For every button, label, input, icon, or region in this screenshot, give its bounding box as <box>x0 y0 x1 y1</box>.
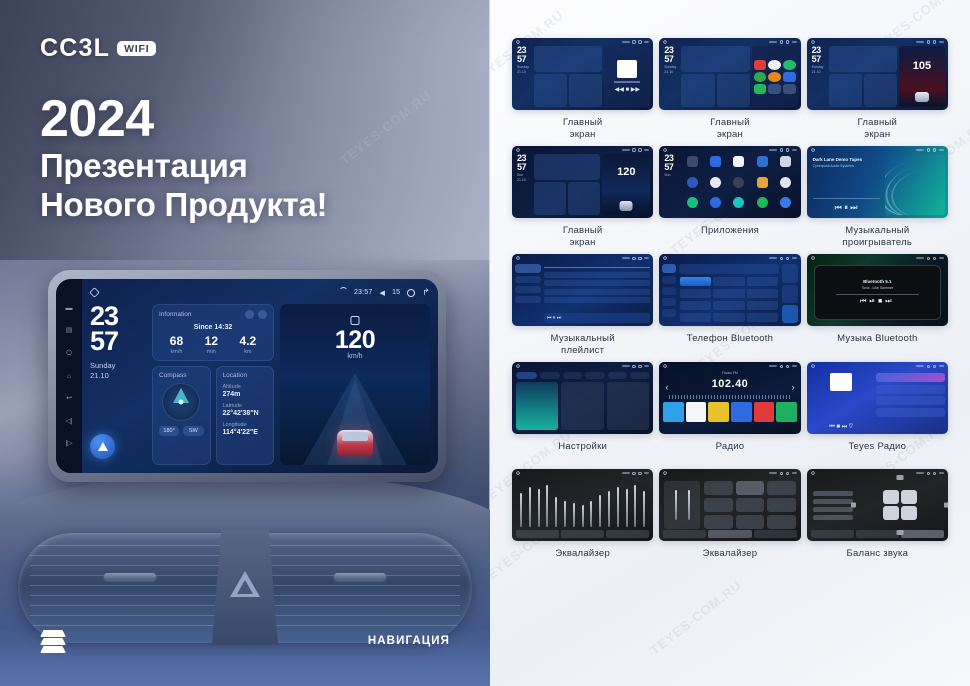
bt-track-title: Toxic - Like Summer <box>861 286 893 290</box>
gallery-item[interactable]: Настройки <box>512 362 653 463</box>
thumb-speed-value: 120 <box>602 166 650 178</box>
bt-version-label: Bluetooth 5.1 <box>863 279 892 284</box>
track-artist: Cyberpunk Audio Systems <box>813 164 880 168</box>
trip-stat: 4.2 km <box>240 335 257 355</box>
back-button[interactable]: ↩ <box>66 395 72 402</box>
screen-thumbnail[interactable] <box>512 362 653 434</box>
altitude-label: Altitude <box>223 384 268 390</box>
gallery-item[interactable]: Dark Lane Demo Tapes Cyberpunk Audio Sys… <box>807 146 948 248</box>
trip-stat: 12 min <box>205 335 218 355</box>
head-unit-screen[interactable]: ▬ ▤ ⏻ ⌂ ↩ ◁| |▷ <box>56 279 438 473</box>
hero-footer: НАВИГАЦИЯ <box>0 630 490 652</box>
thumb-speed-value: 105 <box>899 60 945 72</box>
thumbnail-caption: Баланс звука <box>847 548 909 570</box>
speed-icon <box>351 316 360 325</box>
back-icon[interactable]: ↰ <box>422 287 430 298</box>
screen-thumbnail[interactable]: 23 57 Sunday21.10 <box>512 38 653 110</box>
thumbnail-caption: Главныйэкран <box>563 225 603 248</box>
hero-headline: 2024 Презентация Нового Продукта! <box>40 92 327 224</box>
gallery-item[interactable]: ⏮ ■ ⏭ ♡ Teyes Радио <box>807 362 948 463</box>
thumbnail-caption: Музыкальныйплейлист <box>551 333 615 356</box>
altitude-value: 274m <box>223 391 268 398</box>
gallery-item[interactable]: Поиск FM 102.40 ‹ › Радио <box>659 362 800 463</box>
clock-date: 21.10 <box>90 371 146 381</box>
clock-minutes: 57 <box>90 329 146 354</box>
equalizer-sliders[interactable] <box>520 491 645 527</box>
volume-icon: ◀ <box>379 289 385 297</box>
status-clock: 23:57 <box>354 289 373 296</box>
compass-heading: 180° <box>159 426 179 436</box>
expand-icon[interactable] <box>258 310 267 319</box>
thumbnail-caption: Teyes Радио <box>848 441 906 463</box>
compass-card[interactable]: Compass 180° SW <box>152 366 211 465</box>
side-button-strip[interactable]: ▬ ▤ ⏻ ⌂ ↩ ◁| |▷ <box>56 279 82 473</box>
thumb-clock-minutes: 57 <box>664 163 678 172</box>
refresh-icon[interactable] <box>245 310 254 319</box>
stat-unit: km <box>240 349 257 355</box>
compass-dial <box>162 383 200 421</box>
logo-text: CC3L <box>40 34 110 63</box>
since-label: Since 14:32 <box>159 324 267 331</box>
gallery-item[interactable]: ⏮ ⏸ ⏭ Музыкальныйплейлист <box>512 254 653 356</box>
product-logo: CC3L WIFI <box>40 34 156 63</box>
thumbnail-grid: 23 57 Sunday21.10 <box>490 38 970 570</box>
stat-value: 12 <box>205 335 218 347</box>
screen-thumbnail[interactable]: ⏮ ■ ⏭ ♡ <box>807 362 948 434</box>
wifi-icon <box>338 289 347 296</box>
presentation-page: TEYES-COM.RU TEYES-COM.RU TEYES-COM.RU C… <box>0 0 970 686</box>
next-station-button[interactable]: › <box>792 382 795 392</box>
track-title: Dark Lane Demo Tapes <box>813 157 880 162</box>
screen-thumbnail[interactable]: 23 57 Sun21.10 120 <box>512 146 653 218</box>
head-unit-body: 23 57 Sunday 21.10 Information <box>90 304 430 465</box>
trip-stat: 68 km/h <box>170 335 183 355</box>
thumbnail-caption: Приложения <box>701 225 759 247</box>
screen-thumbnail[interactable]: Dark Lane Demo Tapes Cyberpunk Audio Sys… <box>807 146 948 218</box>
screen-thumbnail[interactable] <box>659 254 800 326</box>
layers-icon[interactable] <box>40 630 66 652</box>
location-card[interactable]: Location Altitude 274m Latitude 22°42'38… <box>216 366 275 465</box>
thumbnail-caption: Эквалайзер <box>703 548 758 570</box>
eq-button[interactable]: ▤ <box>66 327 73 334</box>
compass-pin <box>179 400 184 405</box>
navigation-label: НАВИГАЦИЯ <box>368 635 450 647</box>
hero-panel: TEYES-COM.RU TEYES-COM.RU TEYES-COM.RU C… <box>0 0 490 686</box>
compass-direction: SW <box>183 426 203 436</box>
status-bar: 23:57 ◀ 15 ↰ <box>90 286 430 299</box>
head-unit-bezel: ▬ ▤ ⏻ ⌂ ↩ ◁| |▷ <box>48 270 446 482</box>
watermark: TEYES-COM.RU <box>337 87 434 168</box>
thumbnail-caption: Телефон Bluetooth <box>687 333 773 355</box>
headline-line1: Презентация <box>40 147 327 186</box>
gear-icon[interactable] <box>407 289 415 297</box>
stat-value: 68 <box>170 335 183 347</box>
car-dashboard: ▬ ▤ ⏻ ⌂ ↩ ◁| |▷ <box>0 243 490 686</box>
radio-frequency: 102.40 <box>659 378 800 390</box>
screen-thumbnail[interactable]: Поиск FM 102.40 ‹ › <box>659 362 800 434</box>
gallery-item[interactable]: Эквалайзер <box>659 469 800 570</box>
volume-level: 15 <box>392 289 400 296</box>
mute-button[interactable]: ▬ <box>66 305 73 312</box>
power-button[interactable]: ⏻ <box>66 350 72 357</box>
thumb-clock-minutes: 57 <box>812 55 827 64</box>
latitude-label: Latitude <box>223 403 268 409</box>
screen-thumbnail[interactable]: 23 57 Sunday21.10 <box>659 38 800 110</box>
navigation-orb-button[interactable] <box>90 434 115 459</box>
screen-thumbnail[interactable]: 23 57 Sun <box>659 146 800 218</box>
dashboard-button-right[interactable] <box>334 573 386 580</box>
radio-band-label: Поиск FM <box>659 371 800 375</box>
gallery-item[interactable]: Эквалайзер <box>512 469 653 570</box>
headline-year: 2024 <box>40 92 327 147</box>
thumb-clock-minutes: 57 <box>517 55 532 64</box>
thumb-clock-minutes: 57 <box>517 163 532 172</box>
screen-thumbnail[interactable]: ⏮ ⏸ ⏭ <box>512 254 653 326</box>
thumbnail-caption: Музыка Bluetooth <box>837 333 917 355</box>
home-icon[interactable] <box>89 287 99 297</box>
stat-unit: km/h <box>170 349 183 355</box>
wifi-badge: WIFI <box>117 41 156 57</box>
speed-value: 120 <box>280 326 430 355</box>
gallery-item[interactable]: 23 57 Sun <box>659 146 800 248</box>
station-presets[interactable] <box>663 402 796 422</box>
screen-thumbnail[interactable]: 23 57 Sunday21.10 105 <box>807 38 948 110</box>
compass-title: Compass <box>159 372 186 379</box>
thumbnail-caption: Главныйэкран <box>858 117 898 140</box>
thumbnail-caption: Музыкальныйпроигрыватель <box>843 225 913 248</box>
screen-thumbnail[interactable] <box>807 469 948 541</box>
widget-column: Information Since 14:32 68 km/h <box>152 304 274 465</box>
screen-thumbnail[interactable] <box>659 469 800 541</box>
clock-widget: 23 57 Sunday 21.10 <box>90 304 146 465</box>
thumbnail-caption: Настройки <box>558 441 607 463</box>
gallery-item[interactable]: Телефон Bluetooth <box>659 254 800 356</box>
stat-unit: min <box>205 349 218 355</box>
thumbnail-caption: Эквалайзер <box>555 548 610 570</box>
screen-thumbnail[interactable]: Bluetooth 5.1 Toxic - Like Summer ⏮⏯■⏭ <box>807 254 948 326</box>
gallery-item[interactable]: 23 57 Sunday21.10 <box>512 38 653 140</box>
head-unit-ui: 23:57 ◀ 15 ↰ 23 57 <box>82 279 438 473</box>
dial-pad[interactable] <box>679 276 778 323</box>
thumbnail-caption: Главныйэкран <box>710 117 750 140</box>
volume-up-button[interactable]: |▷ <box>65 440 72 447</box>
driving-view[interactable]: 120 km/h <box>280 304 430 465</box>
trip-stats: 68 km/h 12 min 4.2 <box>159 335 267 355</box>
gallery-item[interactable]: 23 57 Sunday21.10 <box>659 38 800 140</box>
gallery-item[interactable]: Bluetooth 5.1 Toxic - Like Summer ⏮⏯■⏭ М… <box>807 254 948 356</box>
longitude-value: 114°4'22"E <box>223 429 268 436</box>
watermark: TEYES-COM.RU <box>647 577 744 658</box>
home-button[interactable]: ⌂ <box>67 373 71 380</box>
gallery-item[interactable]: Баланс звука <box>807 469 948 570</box>
clock-day: Sunday <box>90 361 146 371</box>
thumbnail-caption: Радио <box>716 441 745 463</box>
stat-value: 4.2 <box>240 335 257 347</box>
information-card[interactable]: Information Since 14:32 68 km/h <box>152 304 274 361</box>
location-title: Location <box>223 372 248 379</box>
speed-unit: km/h <box>280 353 430 360</box>
headline-line2: Нового Продукта! <box>40 186 327 225</box>
thumb-clock-minutes: 57 <box>664 55 679 64</box>
gallery-item[interactable]: 23 57 Sunday21.10 105 <box>807 38 948 140</box>
volume-down-button[interactable]: ◁| <box>65 418 72 425</box>
thumbnail-caption: Главныйэкран <box>563 117 603 140</box>
hazard-triangle-icon <box>230 571 260 597</box>
information-title: Information <box>159 311 192 318</box>
screens-gallery: TEYES-COM.RU TEYES-COM.RU TEYES-COM.RU T… <box>490 0 970 686</box>
screen-thumbnail[interactable] <box>512 469 653 541</box>
hazard-button-housing[interactable] <box>212 529 278 645</box>
dashboard-button-left[interactable] <box>104 573 156 580</box>
app-grid[interactable] <box>680 154 797 215</box>
prev-station-button[interactable]: ‹ <box>665 382 668 392</box>
longitude-label: Longitude <box>223 422 268 428</box>
latitude-value: 22°42'38"N <box>223 410 268 417</box>
car-3d-model <box>337 430 373 456</box>
gallery-item[interactable]: 23 57 Sun21.10 120 <box>512 146 653 248</box>
